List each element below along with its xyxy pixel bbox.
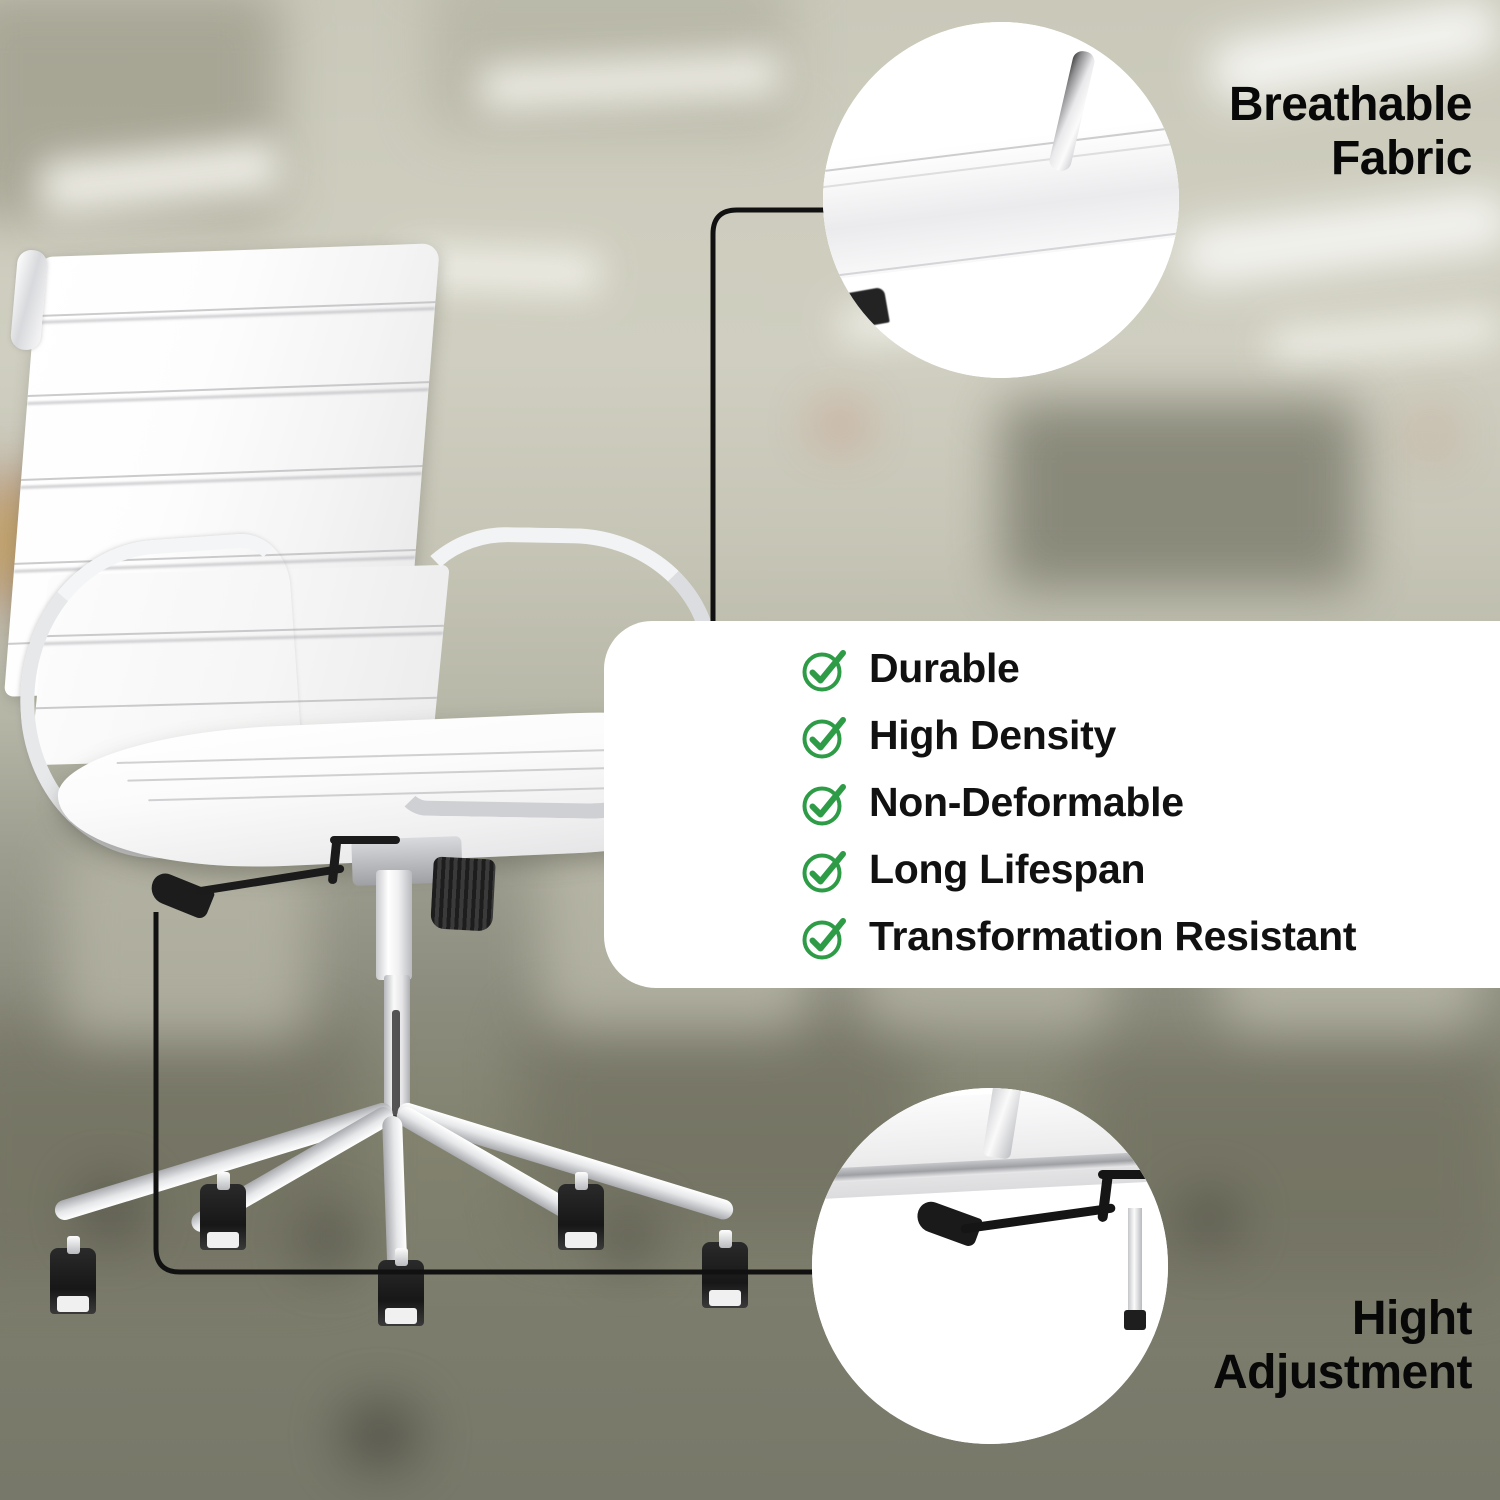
check-circle-icon xyxy=(801,848,847,894)
feature-label: Durable xyxy=(869,648,1020,689)
feature-item-transformation-resistant: Transformation Resistant xyxy=(801,903,1356,970)
feature-list-panel: Durable High Density N xyxy=(604,621,1500,988)
callout-label-line-1: Hight xyxy=(912,1292,1472,1346)
dark-hardware-closeup xyxy=(844,287,890,329)
callout-label-line-2: Adjustment xyxy=(912,1346,1472,1400)
feature-item-high-density: High Density xyxy=(801,702,1356,769)
feature-item-durable: Durable xyxy=(801,635,1356,702)
zoom-fabric-closeup xyxy=(823,22,1179,378)
infographic-canvas: Durable High Density N xyxy=(0,0,1500,1500)
zoom-circle-breathable-fabric xyxy=(823,22,1179,378)
callout-label-line-1: Breathable xyxy=(912,78,1472,132)
feature-label: High Density xyxy=(869,715,1116,756)
feature-label: Non-Deformable xyxy=(869,782,1184,823)
feature-item-long-lifespan: Long Lifespan xyxy=(801,836,1356,903)
feature-label: Transformation Resistant xyxy=(869,916,1356,957)
lever-rod-top-closeup xyxy=(1098,1170,1168,1179)
callout-label-hight-adjustment: Hight Adjustment xyxy=(912,1292,1472,1400)
feature-label: Long Lifespan xyxy=(869,849,1145,890)
check-circle-icon xyxy=(801,714,847,760)
check-circle-icon xyxy=(801,915,847,961)
check-circle-icon xyxy=(801,647,847,693)
feature-list: Durable High Density N xyxy=(801,635,1356,970)
lever-rod-closeup xyxy=(960,1203,1116,1234)
feature-item-non-deformable: Non-Deformable xyxy=(801,769,1356,836)
callout-label-breathable-fabric: Breathable Fabric xyxy=(912,78,1472,186)
callout-label-line-2: Fabric xyxy=(912,132,1472,186)
check-circle-icon xyxy=(801,781,847,827)
